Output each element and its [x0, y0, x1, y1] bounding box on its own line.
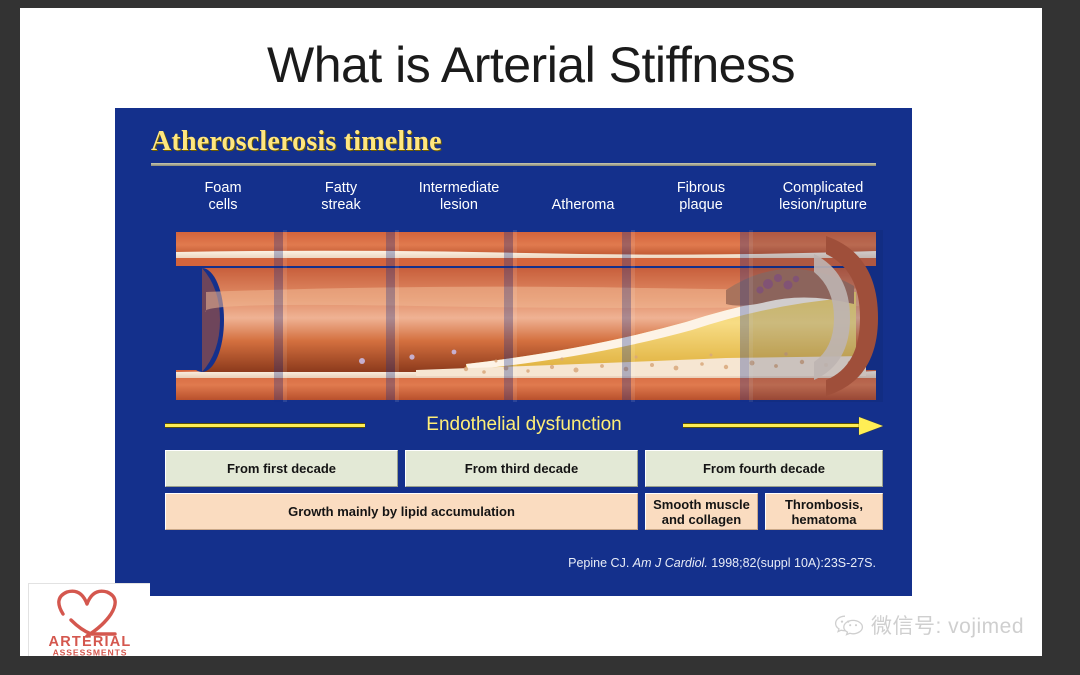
stage-header-intermediate-lesion: Intermediate lesion [393, 180, 525, 214]
stage-header-line1: Atheroma [552, 197, 615, 213]
stage-header-foam-cells: Foam cells [163, 180, 283, 214]
description-box-smooth-muscle: Smooth muscle and collagen [645, 493, 758, 530]
endothelial-dysfunction-label: Endothelial dysfunction [426, 411, 621, 439]
description-line1: Smooth muscle [653, 497, 750, 512]
stage-header-row: Foam cells Fatty streak Intermediate les… [163, 180, 883, 225]
arrow-line-right [683, 423, 861, 428]
watermark-text: 微信号: vojimed [871, 610, 1024, 640]
stage-header-line1: Fatty [325, 180, 357, 196]
logo-line2: ASSESSMENTS [53, 648, 128, 658]
artery-illustration [166, 230, 883, 402]
atherosclerosis-figure-panel: Atherosclerosis timeline Foam cells Fatt… [115, 108, 912, 596]
arrow-head-icon [859, 417, 883, 435]
citation-reference: 1998;82(suppl 10A):23S-27S. [711, 556, 876, 570]
endothelial-dysfunction-arrow: Endothelial dysfunction [165, 411, 883, 441]
stage-header-fatty-streak: Fatty streak [281, 180, 401, 214]
decade-box-third: From third decade [405, 450, 638, 487]
citation-journal: Am J Cardiol. [633, 556, 708, 570]
presentation-slide: What is Arterial Stiffness Atheroscleros… [20, 8, 1042, 656]
stage-header-line1: Fibrous [677, 180, 725, 196]
page-title: What is Arterial Stiffness [20, 36, 1042, 94]
figure-title: Atherosclerosis timeline [151, 126, 442, 158]
decade-box-first: From first decade [165, 450, 398, 487]
figure-citation: Pepine CJ. Am J Cardiol. 1998;82(suppl 1… [568, 556, 876, 570]
description-line2: and collagen [662, 512, 741, 527]
stage-header-line2: lesion/rupture [779, 197, 867, 213]
stage-header-complicated-lesion: Complicated lesion/rupture [749, 180, 897, 214]
stage-header-line2: plaque [679, 197, 723, 213]
figure-title-divider [151, 163, 876, 166]
stage-header-line2: lesion [440, 197, 478, 213]
description-line-wrap: Smooth muscle and collagen [653, 497, 750, 527]
description-box-thrombosis: Thrombosis, hematoma [765, 493, 883, 530]
stage-header-line2: streak [321, 197, 361, 213]
screenshot-root: What is Arterial Stiffness Atheroscleros… [0, 0, 1080, 675]
decade-box-fourth: From fourth decade [645, 450, 883, 487]
wechat-watermark: 微信号: vojimed [834, 610, 1024, 640]
stage-header-fibrous-plaque: Fibrous plaque [641, 180, 761, 214]
stage-header-line1: Intermediate [419, 180, 500, 196]
description-box-row: Growth mainly by lipid accumulation Smoo… [165, 493, 883, 530]
decade-box-row: From first decade From third decade From… [165, 450, 883, 487]
description-line-wrap: Thrombosis, hematoma [785, 497, 863, 527]
logo-svg: ARTERIAL ASSESSMENTS [29, 584, 151, 657]
artery-cutaway-svg [166, 230, 883, 402]
stage-header-line2: cells [208, 197, 237, 213]
description-line1: Thrombosis, [785, 497, 863, 512]
citation-author: Pepine CJ. [568, 556, 629, 570]
description-box-lipid-accumulation: Growth mainly by lipid accumulation [165, 493, 638, 530]
wechat-icon [834, 613, 864, 637]
stage-header-line1: Complicated [783, 180, 864, 196]
arrow-line-left [165, 423, 365, 428]
stage-header-line1: Foam [204, 180, 241, 196]
stage-header-atheroma: Atheroma [523, 197, 643, 214]
description-line2: hematoma [791, 512, 856, 527]
arterial-assessments-logo: ARTERIAL ASSESSMENTS [28, 583, 150, 656]
